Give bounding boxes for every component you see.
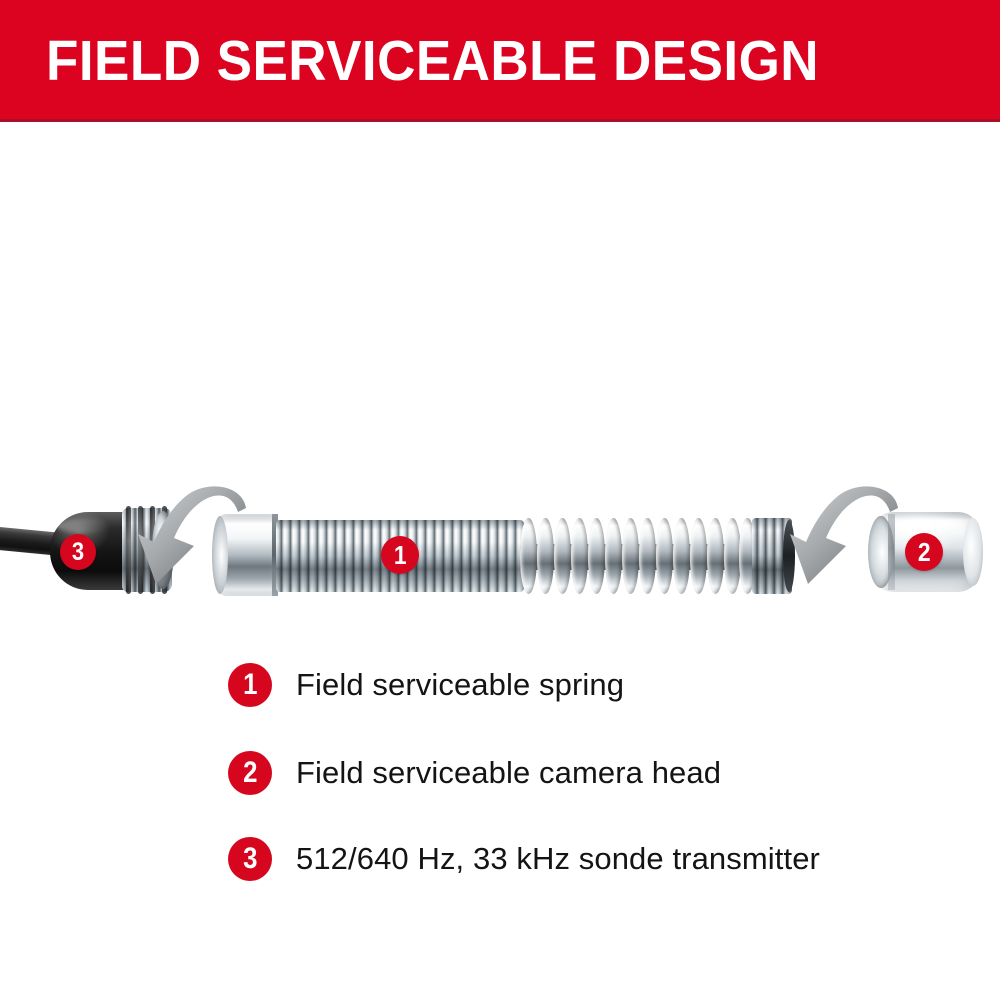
legend-label-1: Field serviceable spring <box>296 667 624 703</box>
legend-badge-2-label: 2 <box>243 758 257 788</box>
illustration-badge-1: 1 <box>381 536 419 574</box>
spring-expanded-coil-section <box>520 518 756 594</box>
spring-left-collar <box>218 514 278 596</box>
page-title: FIELD SERVICEABLE DESIGN <box>46 33 819 90</box>
illustration-badge-1-label: 1 <box>394 542 407 568</box>
legend-item-3: 3 512/640 Hz, 33 kHz sonde transmitter <box>228 837 820 881</box>
legend-item-2: 2 Field serviceable camera head <box>228 751 721 795</box>
illustration-badge-3-label: 3 <box>72 540 84 565</box>
camera-head-endcap <box>963 518 983 586</box>
legend-badge-1: 1 <box>228 663 272 707</box>
legend-badge-1-label: 1 <box>243 670 257 700</box>
illustration-badge-2: 2 <box>905 533 943 571</box>
legend-item-1: 1 Field serviceable spring <box>228 663 624 707</box>
product-illustration: 3 1 <box>0 130 1000 630</box>
camera-head-band <box>888 514 895 590</box>
legend-badge-2: 2 <box>228 751 272 795</box>
illustration-badge-3: 3 <box>60 534 96 570</box>
legend-badge-3: 3 <box>228 837 272 881</box>
legend-badge-3-label: 3 <box>243 844 257 874</box>
header-banner: FIELD SERVICEABLE DESIGN <box>0 0 1000 122</box>
legend-label-3: 512/640 Hz, 33 kHz sonde transmitter <box>296 841 820 877</box>
illustration-badge-2-label: 2 <box>918 539 931 565</box>
camera-head-highlight <box>898 518 960 533</box>
header-underline <box>0 119 1000 122</box>
legend-label-2: Field serviceable camera head <box>296 755 721 791</box>
